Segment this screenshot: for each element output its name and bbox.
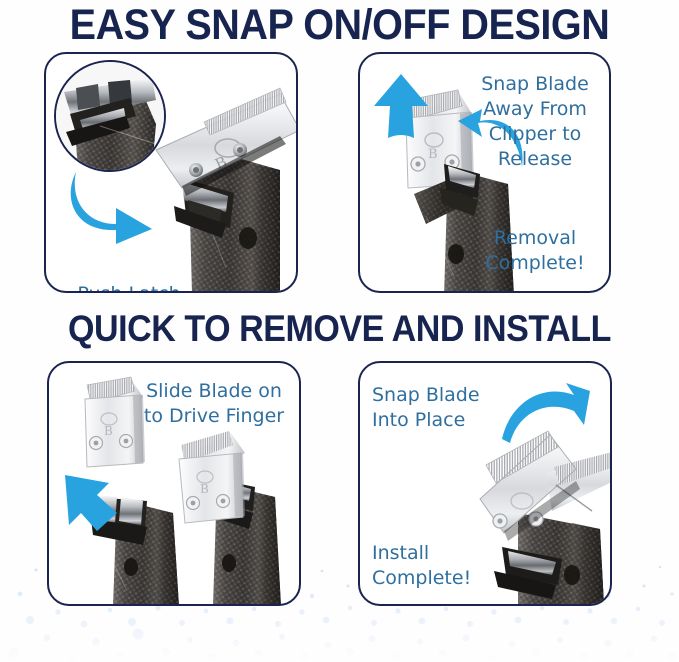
- curved-arrow-right-down-icon: [500, 381, 592, 451]
- curved-arrow-right-icon: [68, 166, 156, 244]
- latch-closeup-inset: [54, 60, 166, 172]
- caption-push-latch: Push Latch Inward: [54, 282, 204, 293]
- caption-slide-blade: Slide Blade on to Drive Finger: [135, 379, 293, 429]
- page-title-primary: EASY SNAP ON/OFF DESIGN: [27, 2, 652, 48]
- up-arrow-icon: [372, 72, 430, 142]
- svg-text:B: B: [200, 482, 209, 496]
- caption-snap-blade-into-place: Snap Blade Into Place: [372, 383, 502, 433]
- snap-into-place-panel: Snap Blade Into Place Install Complete!: [358, 361, 612, 606]
- push-latch-panel: B: [44, 52, 298, 293]
- blade-sliding-on-illustration: B: [171, 431, 301, 606]
- remove-blade-panel: B: [358, 52, 611, 293]
- down-left-arrow-icon: [57, 473, 121, 543]
- caption-install-complete: Install Complete!: [372, 541, 502, 591]
- slide-blade-panel: B: [47, 361, 301, 606]
- caption-snap-blade-away: Snap Blade Away From Clipper to Release: [471, 72, 599, 172]
- infographic-page: EASY SNAP ON/OFF DESIGN: [0, 0, 679, 662]
- page-title-secondary: QUICK TO REMOVE AND INSTALL: [27, 309, 652, 349]
- caption-removal-complete: Removal Complete!: [471, 226, 599, 276]
- svg-text:B: B: [104, 424, 113, 438]
- latch-closeup-illustration: [56, 62, 164, 170]
